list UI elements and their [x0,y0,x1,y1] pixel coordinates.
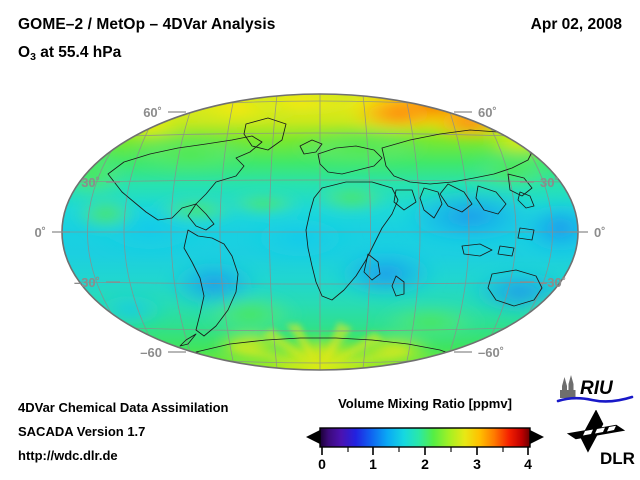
mollweide-map: 30˚ 0˚ –30˚ 30˚ 0˚ –30˚ 60˚ 60˚ –60 –60˚ [0,78,640,388]
colorbar-title: Volume Mixing Ratio [ppmv] [300,396,550,411]
species-subscript: 3 [30,51,36,63]
colorbar-cap-left [306,430,320,444]
lat-label-right-30s: –30˚ [540,275,566,290]
analysis-date: Apr 02, 2008 [531,16,622,34]
dlr-wordmark: DLR [600,449,635,468]
dlr-logo: DLR [566,410,638,468]
colorbar-tick-1: 1 [369,456,377,472]
page-title: GOME–2 / MetOp – 4DVar Analysis [18,16,276,34]
footer-line-url[interactable]: http://wdc.dlr.de [18,448,118,463]
lat-label-left-0: 0˚ [34,225,46,240]
species-symbol: O [18,44,30,61]
lat-label-right-30n: 30˚ [540,175,559,190]
riu-logo: RIU [556,374,634,406]
colorbar-tick-3: 3 [473,456,481,472]
colorbar-ticks [322,447,528,455]
lat-label-left-30n: 30˚ [81,175,100,190]
cathedral-spires-icon [560,375,576,398]
colorbar-panel: Volume Mixing Ratio [ppmv] [300,396,550,472]
graticule [62,94,578,370]
lat-label-inner-60s-left: –60 [140,345,162,360]
colorbar: 0 1 2 3 4 [300,418,550,472]
map-panel: 30˚ 0˚ –30˚ 30˚ 0˚ –30˚ 60˚ 60˚ –60 –60˚ [0,78,640,388]
colorbar-tick-4: 4 [524,456,532,472]
footer-line-assimilation: 4DVar Chemical Data Assimilation [18,400,229,415]
species-subtitle: O3 at 55.4 hPa [18,44,121,62]
footer-line-version: SACADA Version 1.7 [18,424,145,439]
colorbar-tick-2: 2 [421,456,429,472]
riu-wordmark: RIU [580,378,614,399]
ozone-analysis-figure: GOME–2 / MetOp – 4DVar Analysis O3 at 55… [0,0,640,480]
lat-label-right-0: 0˚ [594,225,606,240]
ozone-field [52,84,604,386]
lat-label-inner-60n-left: 60˚ [143,105,162,120]
colorbar-cap-right [530,430,544,444]
lat-label-left-30s: –30˚ [74,275,100,290]
lat-label-inner-60s-right: –60˚ [478,345,504,360]
lat-label-inner-60n-right: 60˚ [478,105,497,120]
colorbar-tick-0: 0 [318,456,326,472]
colorbar-gradient [320,428,530,447]
species-level: at 55.4 hPa [36,44,121,61]
